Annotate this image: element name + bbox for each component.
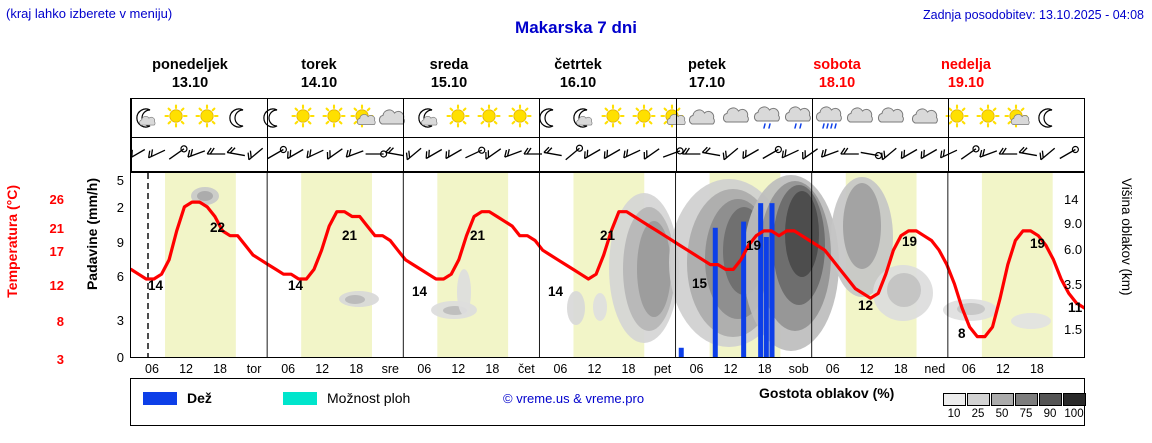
day-name: torek: [259, 56, 379, 74]
cloud-density-tick-75: 75: [1014, 408, 1038, 420]
day-separator: [1084, 138, 1085, 171]
temp-point-label: 21: [600, 228, 615, 243]
cloud-density-swatch-90: [1039, 393, 1062, 406]
cloud-density-swatch-75: [1015, 393, 1038, 406]
precip-tick-0: 5: [98, 173, 124, 188]
x-tick-12-9: 12: [444, 362, 472, 376]
x-tick-18-26: 18: [1023, 362, 1051, 376]
x-tick-12-5: 12: [308, 362, 336, 376]
x-tick-12-13: 12: [580, 362, 608, 376]
day-date: 17.10: [647, 74, 767, 92]
x-tick-06-0: 06: [138, 362, 166, 376]
precip-tick-4: 3: [98, 313, 124, 328]
x-tick-12-21: 12: [853, 362, 881, 376]
day-separator: [131, 99, 132, 137]
day-separator: [267, 99, 268, 137]
day-date: 16.10: [518, 74, 638, 92]
cloud-density-tick-10: 10: [942, 408, 966, 420]
x-tick-18-18: 18: [751, 362, 779, 376]
day-separator: [676, 138, 677, 171]
x-tick-18-14: 18: [615, 362, 643, 376]
cloud-density-label: Gostota oblakov (%): [759, 385, 894, 401]
temp-point-label: 14: [288, 278, 303, 293]
day-date: 19.10: [906, 74, 1026, 92]
day-separator: [131, 138, 132, 171]
temp-point-label: 12: [858, 298, 873, 313]
temp-tick-5: 3: [30, 352, 64, 367]
x-tick-18-22: 18: [887, 362, 915, 376]
day-separator: [676, 99, 677, 137]
x-tick-čet-11: čet: [512, 362, 540, 376]
temp-tick-4: 8: [30, 314, 64, 329]
x-tick-12-1: 12: [172, 362, 200, 376]
x-tick-12-25: 12: [989, 362, 1017, 376]
forecast-chart: [130, 172, 1085, 358]
cloud-tick-1: 9.0: [1064, 216, 1104, 231]
x-tick-pet-15: pet: [649, 362, 677, 376]
x-tick-06-8: 06: [410, 362, 438, 376]
day-header-row: ponedeljek13.10torek14.10sreda15.10četrt…: [130, 56, 1085, 96]
day-name: ponedeljek: [130, 56, 250, 74]
x-tick-18-2: 18: [206, 362, 234, 376]
cloud-density-tick-50: 50: [990, 408, 1014, 420]
chart-legend: Dež Možnost ploh © vreme.us & vreme.pro …: [130, 378, 1085, 426]
day-header-sobota: sobota18.10: [777, 56, 897, 92]
rain-legend-label: Dež: [187, 390, 212, 406]
x-tick-sob-19: sob: [785, 362, 813, 376]
temp-point-label: 14: [412, 284, 427, 299]
x-tick-06-12: 06: [546, 362, 574, 376]
day-name: petek: [647, 56, 767, 74]
temp-point-label: 21: [342, 228, 357, 243]
day-separator: [1084, 99, 1085, 137]
temp-tick-1: 21: [30, 221, 64, 236]
cloud-tick-3: 3.5: [1064, 277, 1104, 292]
x-tick-06-24: 06: [955, 362, 983, 376]
precip-tick-1: 2: [98, 200, 124, 215]
day-name: četrtek: [518, 56, 638, 74]
day-separator: [948, 99, 949, 137]
temp-point-label: 11: [1068, 300, 1082, 315]
day-separator: [403, 99, 404, 137]
x-tick-06-4: 06: [274, 362, 302, 376]
cloud-tick-2: 6.0: [1064, 242, 1104, 257]
temp-point-label: 19: [1030, 236, 1045, 251]
temp-point-label: 22: [210, 220, 225, 235]
temp-point-label: 19: [902, 234, 917, 249]
day-header-petek: petek17.10: [647, 56, 767, 92]
day-separator: [948, 138, 949, 171]
cloud-density-tick-90: 90: [1038, 408, 1062, 420]
temp-tick-2: 17: [30, 244, 64, 259]
day-date: 15.10: [389, 74, 509, 92]
day-header-četrtek: četrtek16.10: [518, 56, 638, 92]
showers-legend-label: Možnost ploh: [327, 390, 410, 406]
chart-plot-area: [131, 173, 1084, 357]
x-tick-ned-23: ned: [921, 362, 949, 376]
cloud-tick-0: 14: [1064, 192, 1104, 207]
day-name: nedelja: [906, 56, 1026, 74]
rain-legend-swatch: [143, 392, 177, 405]
cloud-height-axis-title: Višina oblakov (km): [1110, 178, 1134, 296]
showers-legend-swatch: [283, 392, 317, 405]
temp-point-label: 14: [148, 278, 163, 293]
x-tick-12-17: 12: [717, 362, 745, 376]
x-tick-18-6: 18: [342, 362, 370, 376]
day-separator: [539, 138, 540, 171]
cloud-density-swatch-10: [943, 393, 966, 406]
day-separator: [267, 138, 268, 171]
x-tick-06-16: 06: [683, 362, 711, 376]
copyright-link[interactable]: © vreme.us & vreme.pro: [503, 391, 644, 406]
temp-point-label: 15: [692, 276, 707, 291]
wind-barb-band: [130, 138, 1085, 172]
cloud-tick-4: 1.5: [1064, 322, 1104, 337]
cloud-density-tick-25: 25: [966, 408, 990, 420]
day-separator: [539, 99, 540, 137]
day-header-torek: torek14.10: [259, 56, 379, 92]
x-tick-tor-3: tor: [240, 362, 268, 376]
weather-icon-band: [130, 98, 1085, 138]
cloud-density-swatch-100: [1063, 393, 1086, 406]
last-updated: Zadnja posodobitev: 13.10.2025 - 04:08: [923, 8, 1144, 22]
temp-tick-3: 12: [30, 278, 64, 293]
day-separator: [812, 99, 813, 137]
day-name: sobota: [777, 56, 897, 74]
wind-barbs-svg: [131, 138, 1084, 170]
day-header-nedelja: nedelja19.10: [906, 56, 1026, 92]
cloud-density-tick-100: 100: [1062, 408, 1086, 420]
precip-tick-3: 6: [98, 269, 124, 284]
cloud-density-swatch-25: [967, 393, 990, 406]
day-header-ponedeljek: ponedeljek13.10: [130, 56, 250, 92]
day-header-sreda: sreda15.10: [389, 56, 509, 92]
temperature-axis-title: Temperatura (°C): [4, 185, 26, 298]
day-separator: [403, 138, 404, 171]
x-tick-18-10: 18: [478, 362, 506, 376]
temp-point-label: 21: [470, 228, 485, 243]
temp-point-label: 14: [548, 284, 563, 299]
temp-tick-0: 26: [30, 192, 64, 207]
temp-point-label: 8: [958, 326, 966, 341]
precip-tick-5: 0: [98, 350, 124, 365]
weather-icons-svg: [131, 99, 1084, 137]
day-name: sreda: [389, 56, 509, 74]
day-date: 13.10: [130, 74, 250, 92]
day-date: 18.10: [777, 74, 897, 92]
day-separator: [812, 138, 813, 171]
cloud-density-swatch-50: [991, 393, 1014, 406]
x-tick-06-20: 06: [819, 362, 847, 376]
day-date: 14.10: [259, 74, 379, 92]
temp-point-label: 19: [746, 238, 761, 253]
x-tick-sre-7: sre: [376, 362, 404, 376]
precip-tick-2: 9: [98, 235, 124, 250]
